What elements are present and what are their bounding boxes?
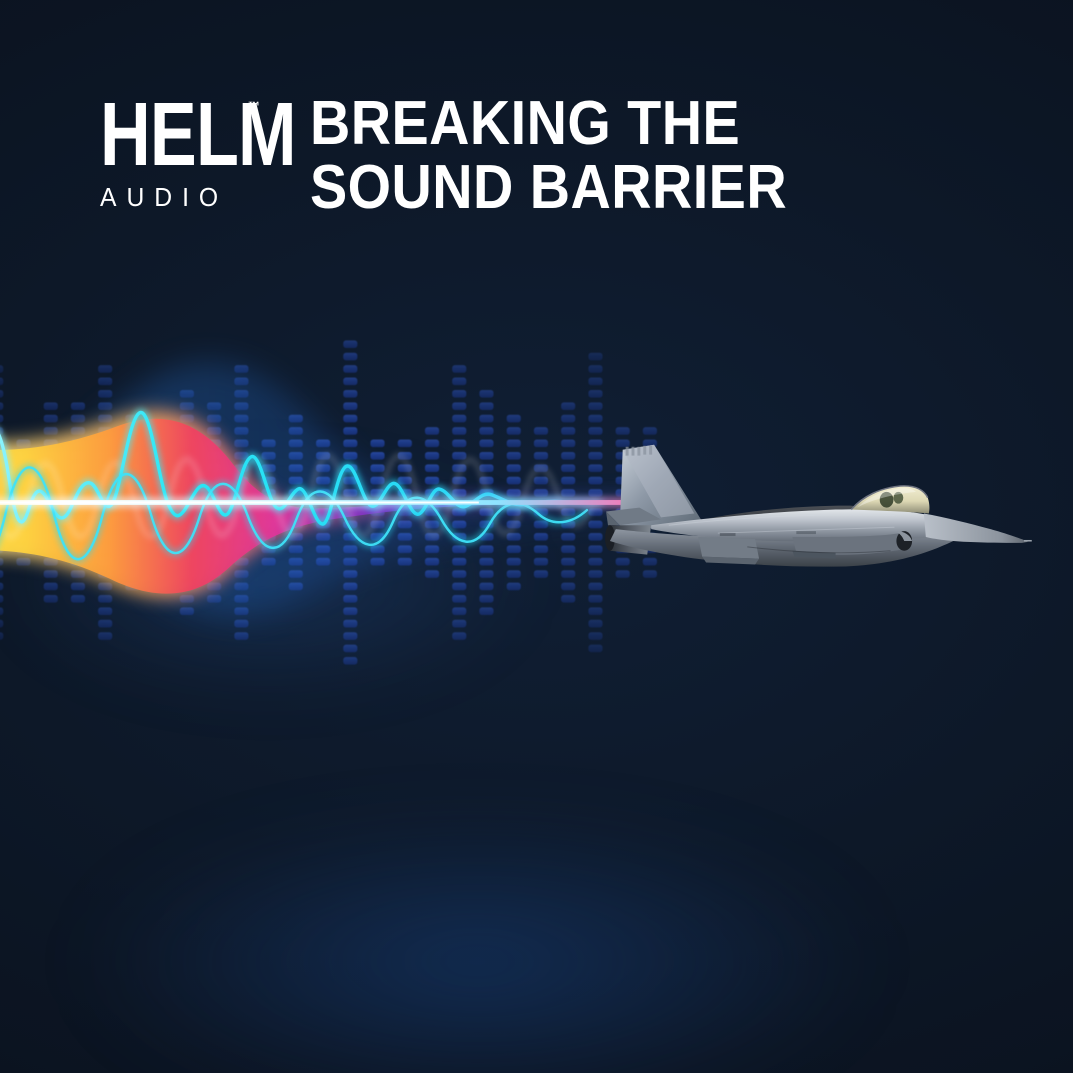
brand-subtitle: AUDIO (100, 184, 244, 210)
audio-waveform-icon (0, 327, 665, 670)
poster-canvas: HELM ™ AUDIO BREAKING THE SOUND BARRIER (0, 0, 1073, 1073)
brand-logo[interactable]: HELM ™ AUDIO (100, 88, 252, 210)
page-title: BREAKING THE SOUND BARRIER (310, 88, 840, 219)
brand-name: HELM (100, 93, 219, 178)
headline-line-2: SOUND BARRIER (310, 158, 787, 219)
header-block: HELM ™ AUDIO BREAKING THE SOUND BARRIER (0, 0, 1073, 219)
fighter-jet-icon (596, 435, 1036, 607)
trademark-symbol: ™ (248, 99, 260, 113)
brand-logo-mark: HELM ™ (100, 93, 252, 178)
headline-line-1: BREAKING THE (310, 94, 787, 155)
